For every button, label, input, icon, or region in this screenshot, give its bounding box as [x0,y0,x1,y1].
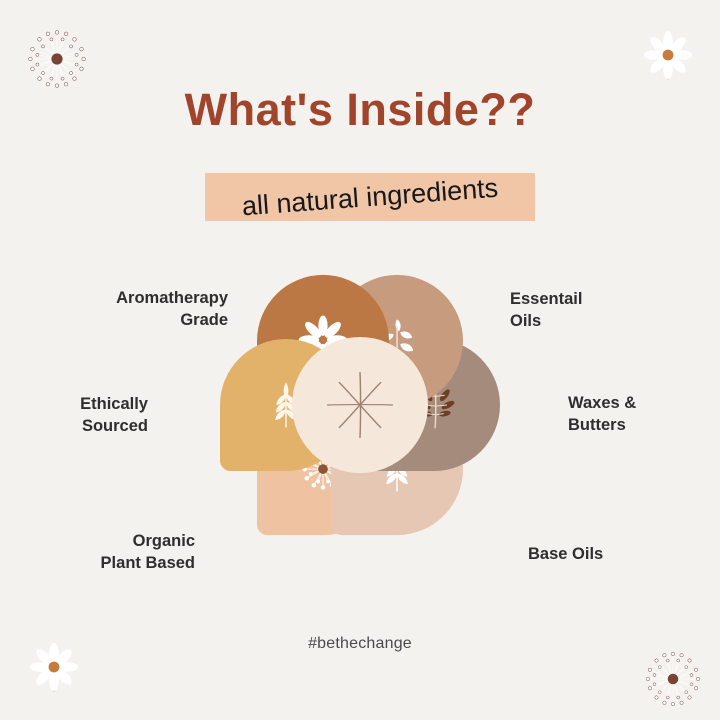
sparkle-star-icon [315,360,405,450]
label-line-1: Ethically [20,393,148,415]
corner-decoration-bottom-right [640,646,710,716]
label-line-1: Aromatherapy [20,287,228,309]
flower-center[interactable] [292,337,428,473]
label-ethically-sourced: Ethically Sourced [20,393,148,438]
page-title: What's Inside?? [0,84,720,136]
label-line-2: Butters [568,414,718,436]
label-aromatherapy-grade: Aromatherapy Grade [20,287,228,332]
hashtag-text: #bethechange [0,635,720,653]
label-line-1: Organic [20,530,195,552]
label-base-oils: Base Oils [528,543,708,565]
label-essential-oils: Essentail Oils [510,288,700,333]
poster-canvas: What's Inside?? all natural ingredients [0,0,720,720]
label-line-2: Sourced [20,415,148,437]
label-line-1: Base Oils [528,543,708,565]
ingredient-flower-diagram [180,240,540,570]
label-line-2: Plant Based [20,552,195,574]
label-waxes-and-butters: Waxes & Butters [568,392,718,437]
subtitle-text: all natural ingredients [204,163,536,231]
daisy-flower-icon [638,28,698,88]
label-line-1: Waxes & [568,392,718,414]
subtitle-highlight-band: all natural ingredients [205,173,535,221]
label-line-1: Essentail [510,288,700,310]
aster-flower-icon [640,646,706,712]
label-line-2: Grade [20,309,228,331]
label-organic-plant-based: Organic Plant Based [20,530,195,575]
label-line-2: Oils [510,310,700,332]
